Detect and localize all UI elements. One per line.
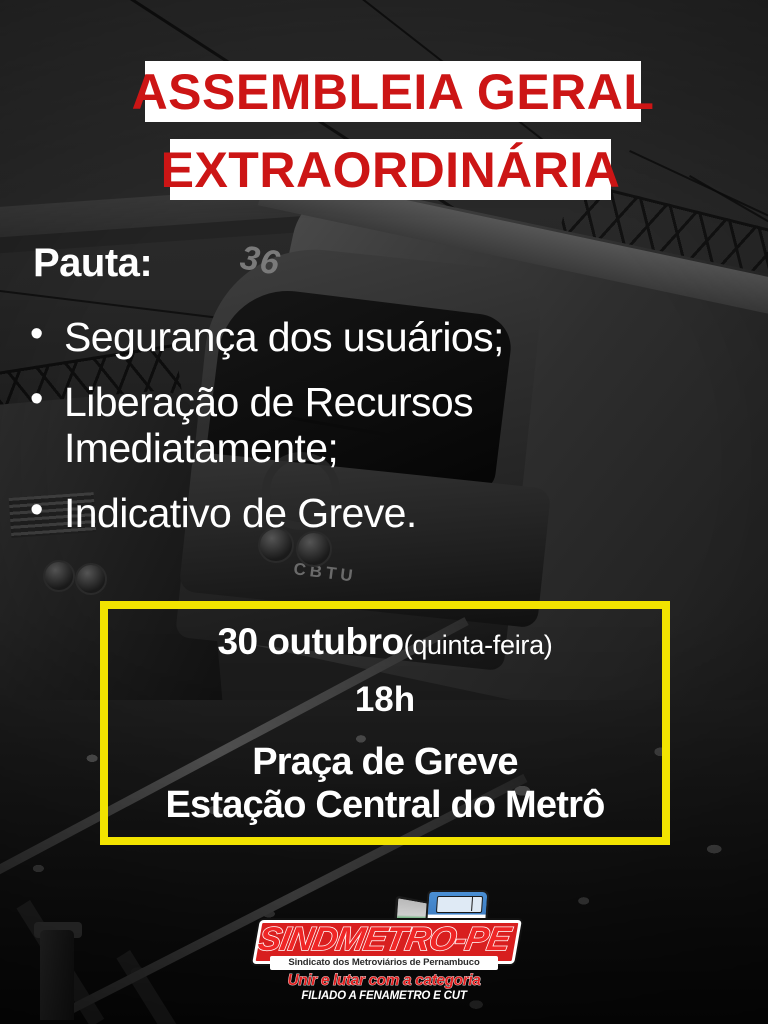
event-details-box: 30 outubro(quinta-feira) 18h Praça de Gr… [100,601,670,845]
event-place: Praça de Greve Estação Central do Metrô [165,741,604,826]
event-weekday: (quinta-feira) [404,630,553,660]
poster-content: ASSEMBLEIA GERAL EXTRAORDINÁRIA Pauta: S… [0,0,768,1024]
headline-line-2: EXTRAORDINÁRIA [161,145,621,195]
poster-canvas: CBTU 36 CBTU ASSEMBLEIA GERAL EXTRAORDIN… [0,0,768,1024]
event-time: 18h [355,682,415,717]
logo-slogan-text: Unir e lutar com a categoria [256,972,512,990]
headline-band-2: EXTRAORDINÁRIA [170,139,611,200]
event-date: 30 outubro [217,621,403,662]
agenda-item: Segurança dos usuários; [28,315,628,361]
sindmetro-pe-logo: SINDMETRO-PE Sindicato dos Metroviários … [256,884,512,996]
agenda-list: Segurança dos usuários; Liberação de Rec… [28,315,628,556]
logo-train-window [436,896,483,913]
agenda-label: Pauta: [33,243,152,283]
event-date-line: 30 outubro(quinta-feira) [217,623,552,660]
headline-line-1: ASSEMBLEIA GERAL [132,67,655,117]
logo-subtitle-text: Sindicato dos Metroviários de Pernambuco [270,956,498,970]
logo-name-text: SINDMETRO-PE [247,918,521,960]
agenda-item: Liberação de Recursos Imediatamente; [28,380,628,472]
headline-band-1: ASSEMBLEIA GERAL [145,61,641,122]
agenda-item: Indicativo de Greve. [28,491,628,537]
logo-affiliation-text: FILIADO A FENAMETRO E CUT [256,989,512,1003]
event-place-line-2: Estação Central do Metrô [165,784,604,827]
event-place-line-1: Praça de Greve [165,741,604,784]
